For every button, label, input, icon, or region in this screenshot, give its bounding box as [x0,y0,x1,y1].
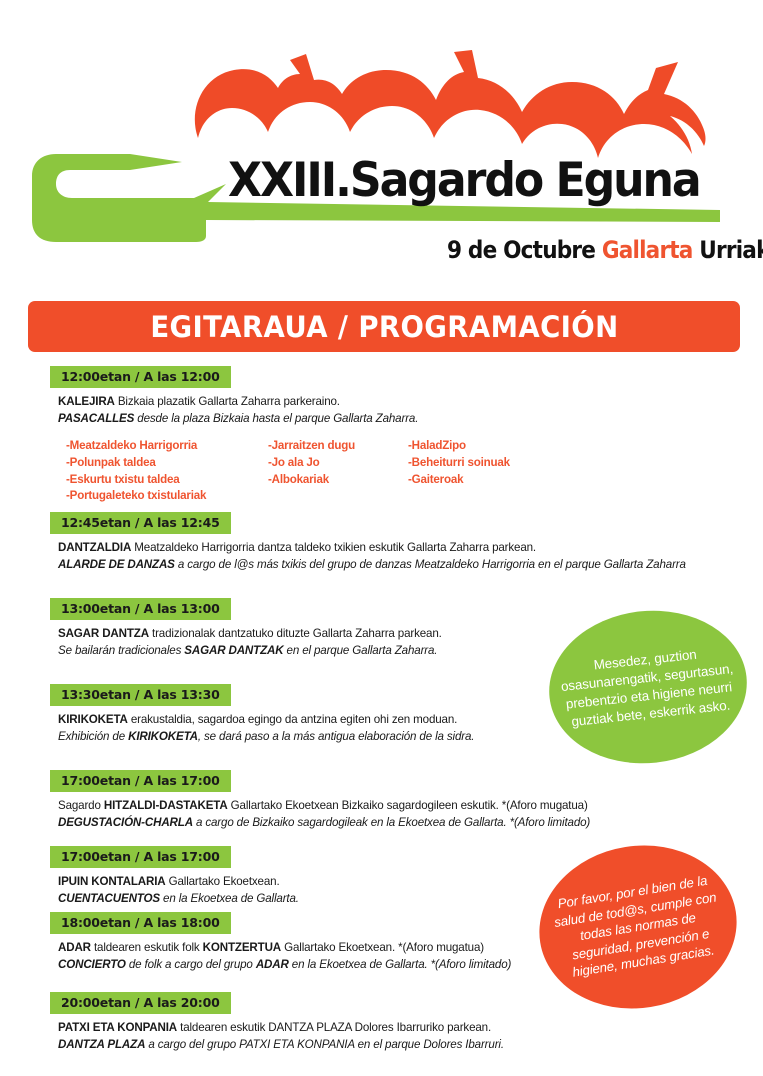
date-suffix: Urriak 9 [693,236,763,264]
schedule-description-es: DANTZA PLAZA a cargo del grupo PATXI ETA… [58,1037,763,1053]
performer-group-item: -Eskurtu txistu taldea [66,472,268,489]
performer-group-item: -Meatzaldeko Harrigorria [66,438,268,455]
schedule-description-es: PASACALLES desde la plaza Bizkaia hasta … [58,411,763,427]
performer-group-item: -Beheiturri soinuak [408,455,588,472]
program-banner-label: EGITARAUA / PROGRAMACIÓN [150,310,618,344]
performer-group-column: -Jarraitzen dugu-Jo ala Jo-Albokariak [268,438,408,505]
event-date: 9 de Octubre Gallarta Urriak 9 [447,238,763,262]
program-banner: EGITARAUA / PROGRAMACIÓN [28,301,740,352]
performer-group-column: -HaladZipo-Beheiturri soinuak-Gaiteroak [408,438,588,505]
schedule-block: 17:00etan / A las 17:00Sagardo HITZALDI-… [0,770,763,831]
performer-group-item: -Portugaleteko txistulariak [66,488,268,505]
health-notice-basque-text: Mesedez, guztion osasunarengatik, segurt… [546,641,750,733]
schedule-time-badge: 13:00etan / A las 13:00 [50,598,231,620]
schedule-description-eu: Sagardo HITZALDI-DASTAKETA Gallartako Ek… [58,798,763,814]
schedule-description-eu: KALEJIRA Bizkaia plazatik Gallarta Zahar… [58,394,763,410]
performer-group-item: -Albokariak [268,472,408,489]
schedule-time-badge: 17:00etan / A las 17:00 [50,846,231,868]
performer-group-column: -Meatzaldeko Harrigorria-Polunpak taldea… [66,438,268,505]
schedule-description: PATXI ETA KONPANIA taldearen eskutik DAN… [58,1020,763,1053]
date-location: Gallarta [602,236,693,264]
schedule-time-badge: 12:00etan / A las 12:00 [50,366,231,388]
schedule-time-badge: 17:00etan / A las 17:00 [50,770,231,792]
performer-group-item: -Jarraitzen dugu [268,438,408,455]
performer-group-item: -Gaiteroak [408,472,588,489]
schedule-description-eu: PATXI ETA KONPANIA taldearen eskutik DAN… [58,1020,763,1036]
date-prefix: 9 de Octubre [447,236,602,264]
performer-group-item: -Jo ala Jo [268,455,408,472]
schedule-time-badge: 12:45etan / A las 12:45 [50,512,231,534]
schedule-time-badge: 20:00etan / A las 20:00 [50,992,231,1014]
health-notice-spanish-text: Por favor, por el bien de la salud de to… [533,868,742,986]
schedule-description-eu: DANTZALDIA Meatzaldeko Harrigorria dantz… [58,540,763,556]
poster-header: XXIII.Sagardo Eguna 9 de Octubre Gallart… [0,0,763,290]
schedule-block: 12:00etan / A las 12:00KALEJIRA Bizkaia … [0,366,763,505]
performer-group-item: -HaladZipo [408,438,588,455]
page-title: XXIII.Sagardo Eguna [228,157,700,204]
schedule-description-es: ALARDE DE DANZAS a cargo de l@s más txik… [58,557,763,573]
schedule-description: KALEJIRA Bizkaia plazatik Gallarta Zahar… [58,394,763,427]
performer-group-item: -Polunpak taldea [66,455,268,472]
schedule-description: DANTZALDIA Meatzaldeko Harrigorria dantz… [58,540,763,573]
schedule-description-es: DEGUSTACIÓN-CHARLA a cargo de Bizkaiko s… [58,815,763,831]
schedule-description: Sagardo HITZALDI-DASTAKETA Gallartako Ek… [58,798,763,831]
schedule-time-badge: 18:00etan / A las 18:00 [50,912,231,934]
schedule-time-badge: 13:30etan / A las 13:30 [50,684,231,706]
schedule-block: 12:45etan / A las 12:45DANTZALDIA Meatza… [0,512,763,573]
performer-group-list: -Meatzaldeko Harrigorria-Polunpak taldea… [66,438,763,505]
